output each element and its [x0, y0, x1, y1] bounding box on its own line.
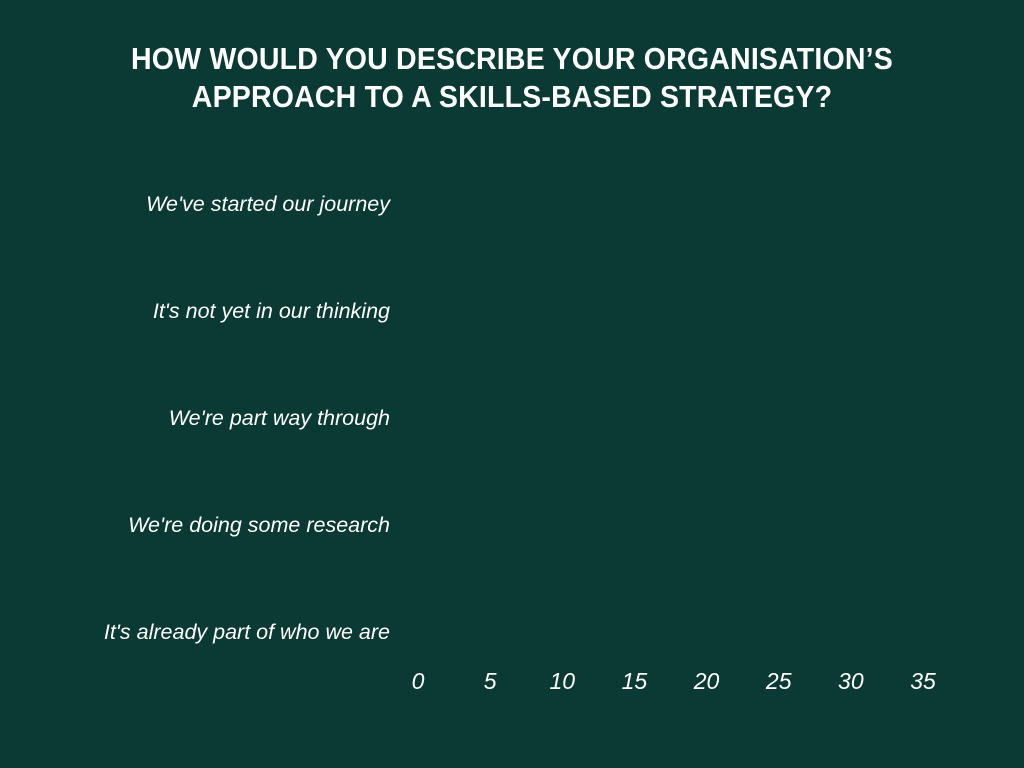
bar	[418, 263, 764, 358]
y-axis-label: It's not yet in our thinking	[153, 263, 390, 358]
x-axis-tick: 35	[910, 666, 936, 696]
bar	[418, 156, 894, 251]
x-axis-tick: 20	[694, 666, 720, 696]
x-axis-tick: 5	[484, 666, 497, 696]
x-axis-tick: 30	[838, 666, 864, 696]
bar	[418, 370, 707, 465]
page-title: HOW WOULD YOU DESCRIBE YOUR ORGANISATION…	[41, 40, 983, 116]
x-axis-tick: 10	[549, 666, 575, 696]
page-title-line-2: APPROACH TO A SKILLS-BASED STRATEGY?	[96, 78, 928, 116]
y-axis-label: We're doing some research	[128, 477, 390, 572]
x-axis-tick-labels: 05101520253035	[418, 666, 923, 698]
x-axis-tick: 25	[766, 666, 792, 696]
page-title-line-1: HOW WOULD YOU DESCRIBE YOUR ORGANISATION…	[96, 40, 928, 78]
bar	[418, 584, 505, 679]
bar	[418, 477, 649, 572]
y-axis-category-labels: We've started our journeyIt's not yet in…	[0, 156, 404, 658]
y-axis-label: We've started our journey	[146, 156, 390, 251]
x-axis-tick: 0	[412, 666, 425, 696]
x-axis-tick: 15	[622, 666, 648, 696]
y-axis-label: It's already part of who we are	[104, 584, 390, 679]
bar-chart: HOW WOULD YOU DESCRIBE YOUR ORGANISATION…	[0, 0, 1024, 768]
y-axis-label: We're part way through	[169, 370, 390, 465]
plot-area	[418, 156, 923, 658]
